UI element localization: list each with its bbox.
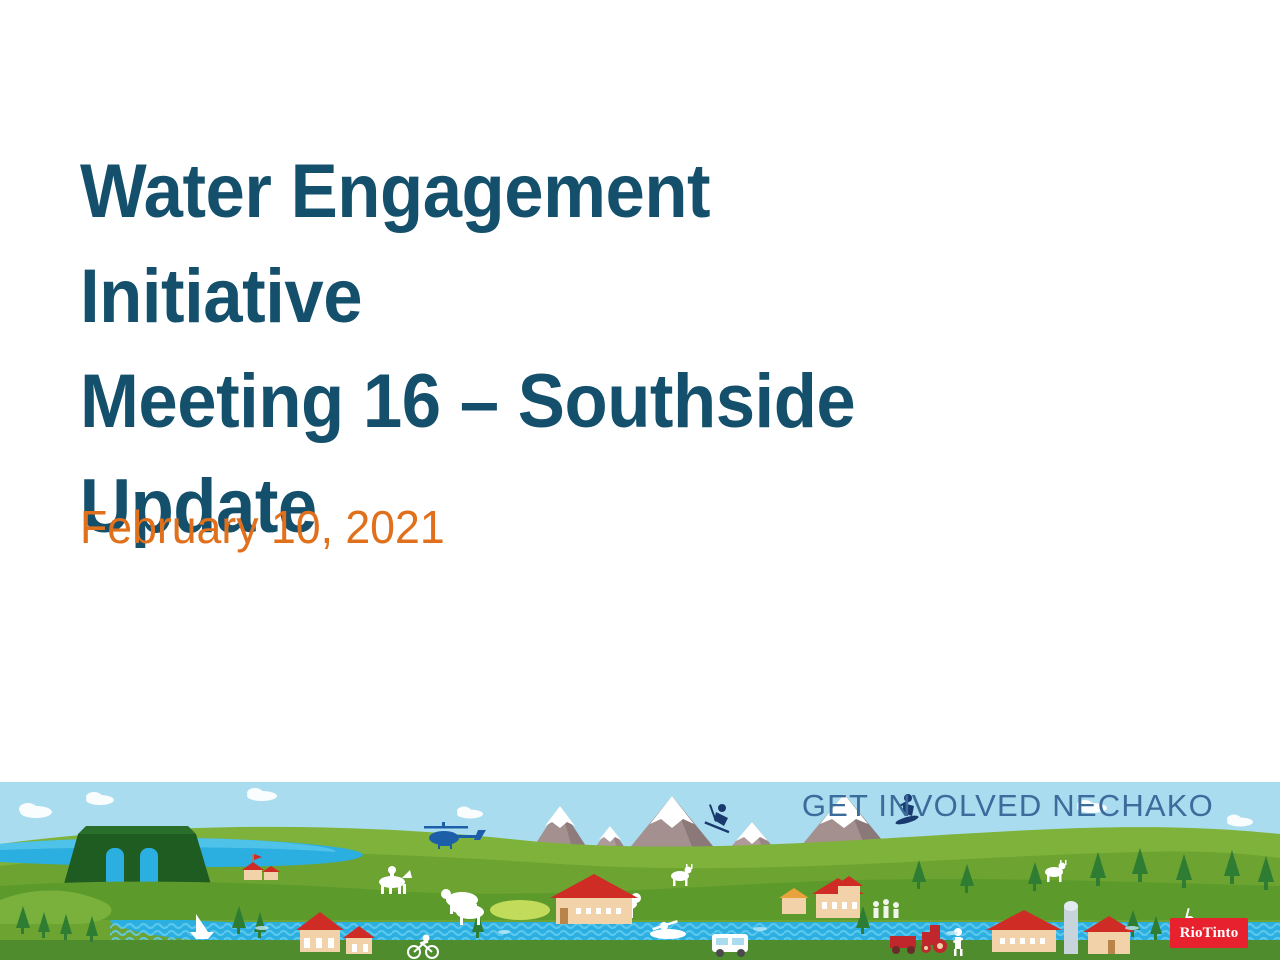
riotinto-logo-text: RioTinto	[1180, 926, 1239, 941]
presentation-slide: Water Engagement Initiative Meeting 16 –…	[0, 0, 1280, 960]
nechako-banner-illustration: GET INVOLVED NECHAKO RioTinto	[0, 782, 1280, 960]
title-block: Water Engagement Initiative Meeting 16 –…	[80, 140, 1040, 560]
riotinto-logo: RioTinto	[1170, 918, 1248, 948]
slide-date: February 10, 2021	[80, 500, 445, 555]
banner-wordmark: GET INVOLVED NECHAKO	[802, 788, 1214, 824]
page-title: Water Engagement Initiative Meeting 16 –…	[80, 140, 973, 560]
